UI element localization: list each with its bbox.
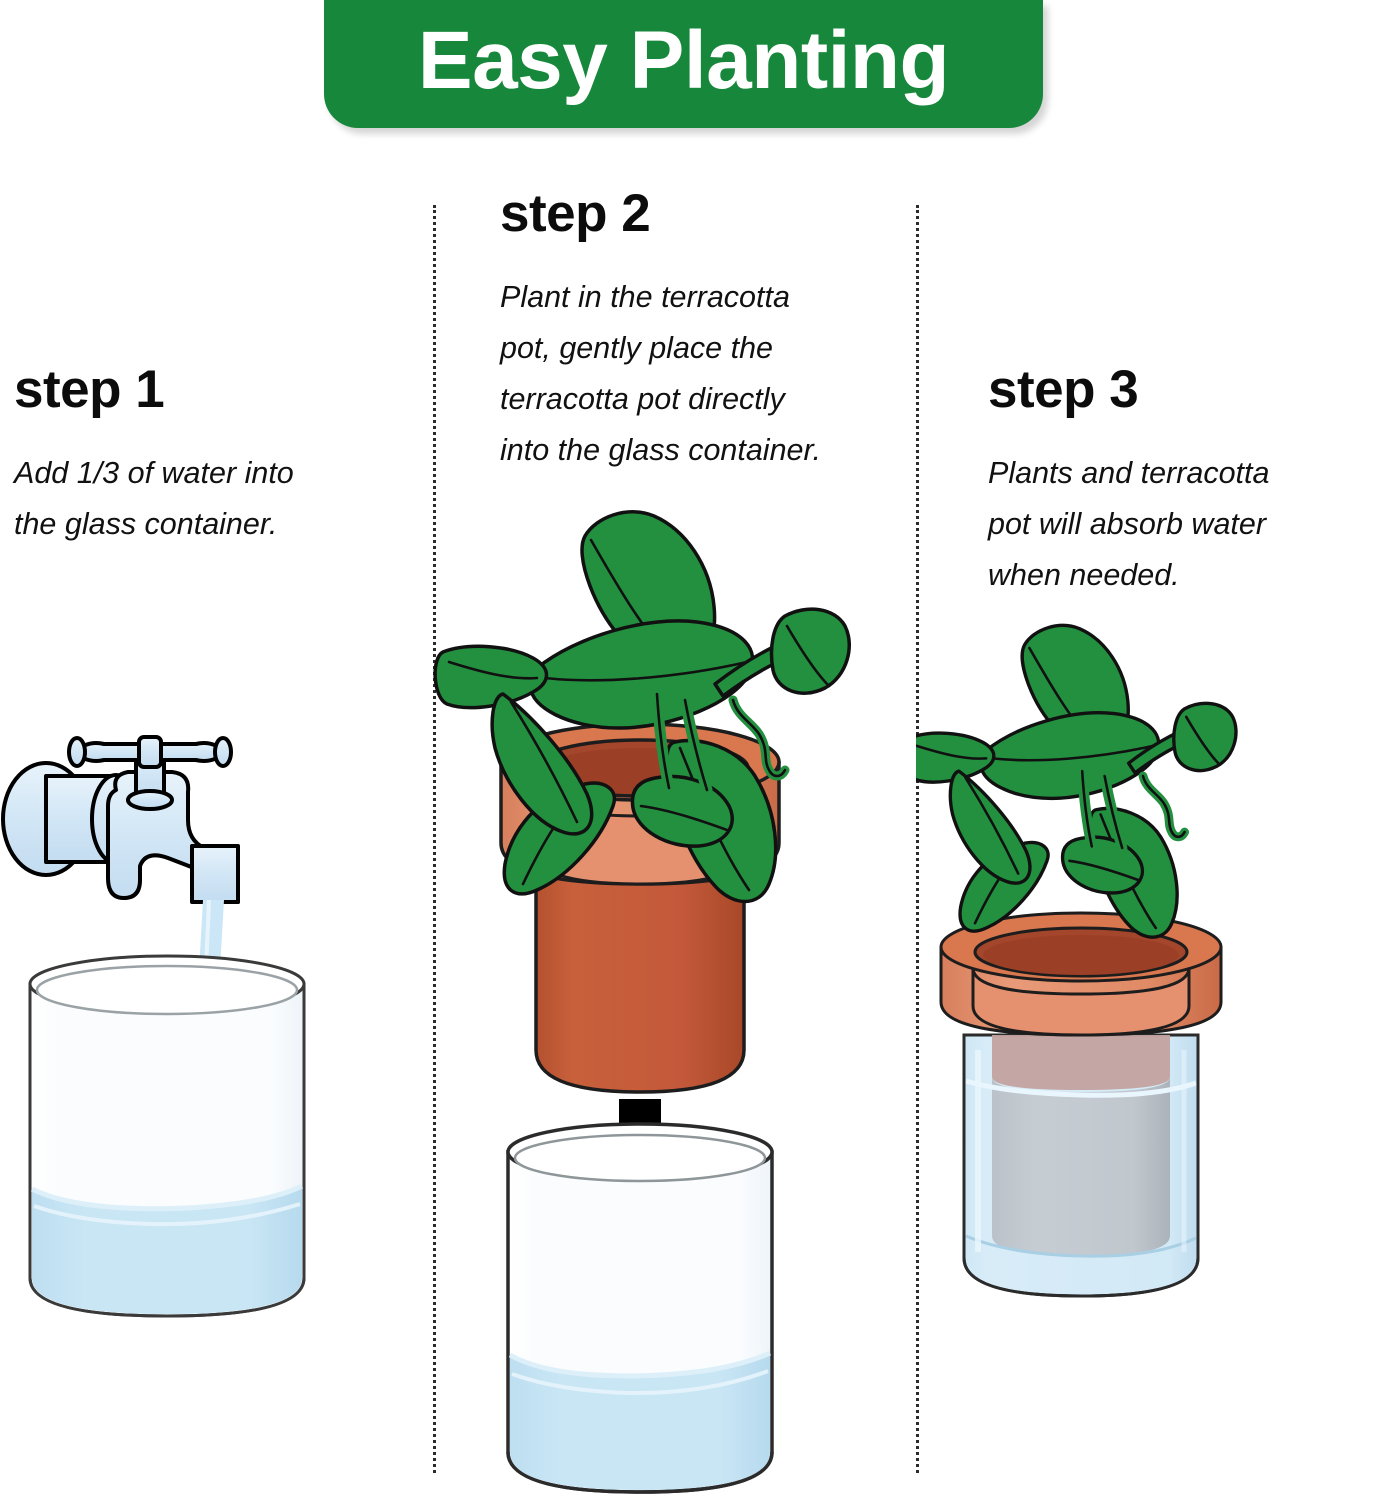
plant-leaves-icon [435,512,916,902]
glass-container-icon [30,956,304,1316]
step-2-body: Plant in the terracotta pot, gently plac… [500,272,821,476]
terracotta-pot-icon-submerged [966,1035,1196,1256]
faucet-icon [3,737,238,902]
step-3-column: step 3 Plants and terracotta pot will ab… [916,0,1387,1500]
infographic-root: Easy Planting step 1 Add 1/3 of water in… [0,0,1387,1500]
step-1-column: step 1 Add 1/3 of water into the glass c… [0,0,433,1500]
terracotta-pot-icon [501,724,779,1092]
terracotta-pot-icon [941,913,1221,1035]
step-3-line-1: Plants and terracotta [988,448,1269,499]
step-3-line-3: when needed. [988,550,1269,601]
glass-container-front-outline [964,1035,1198,1296]
step-2-line-4: into the glass container. [500,425,821,476]
glass-container-icon [508,1124,772,1492]
step-1-heading: step 1 [14,362,164,418]
step-1-line-2: the glass container. [14,499,294,550]
step-2-line-1: Plant in the terracotta [500,272,821,323]
plant-leaves-icon [916,625,1236,937]
water-stream-icon [186,900,224,1256]
step-2-line-2: pot, gently place the [500,323,821,374]
step-3-heading: step 3 [988,362,1138,418]
step-3-body: Plants and terracotta pot will absorb wa… [988,448,1269,601]
step-3-illustration [916,0,1387,1500]
step-2-column: step 2 Plant in the terracotta pot, gent… [433,0,916,1500]
step-1-illustration [0,0,433,1500]
step-2-heading: step 2 [500,186,650,242]
step-1-line-1: Add 1/3 of water into [14,448,294,499]
down-arrow-icon [594,1099,686,1168]
step-1-body: Add 1/3 of water into the glass containe… [14,448,294,550]
step-3-line-2: pot will absorb water [988,499,1269,550]
glass-container-icon [964,1035,1198,1296]
step-2-line-3: terracotta pot directly [500,374,821,425]
